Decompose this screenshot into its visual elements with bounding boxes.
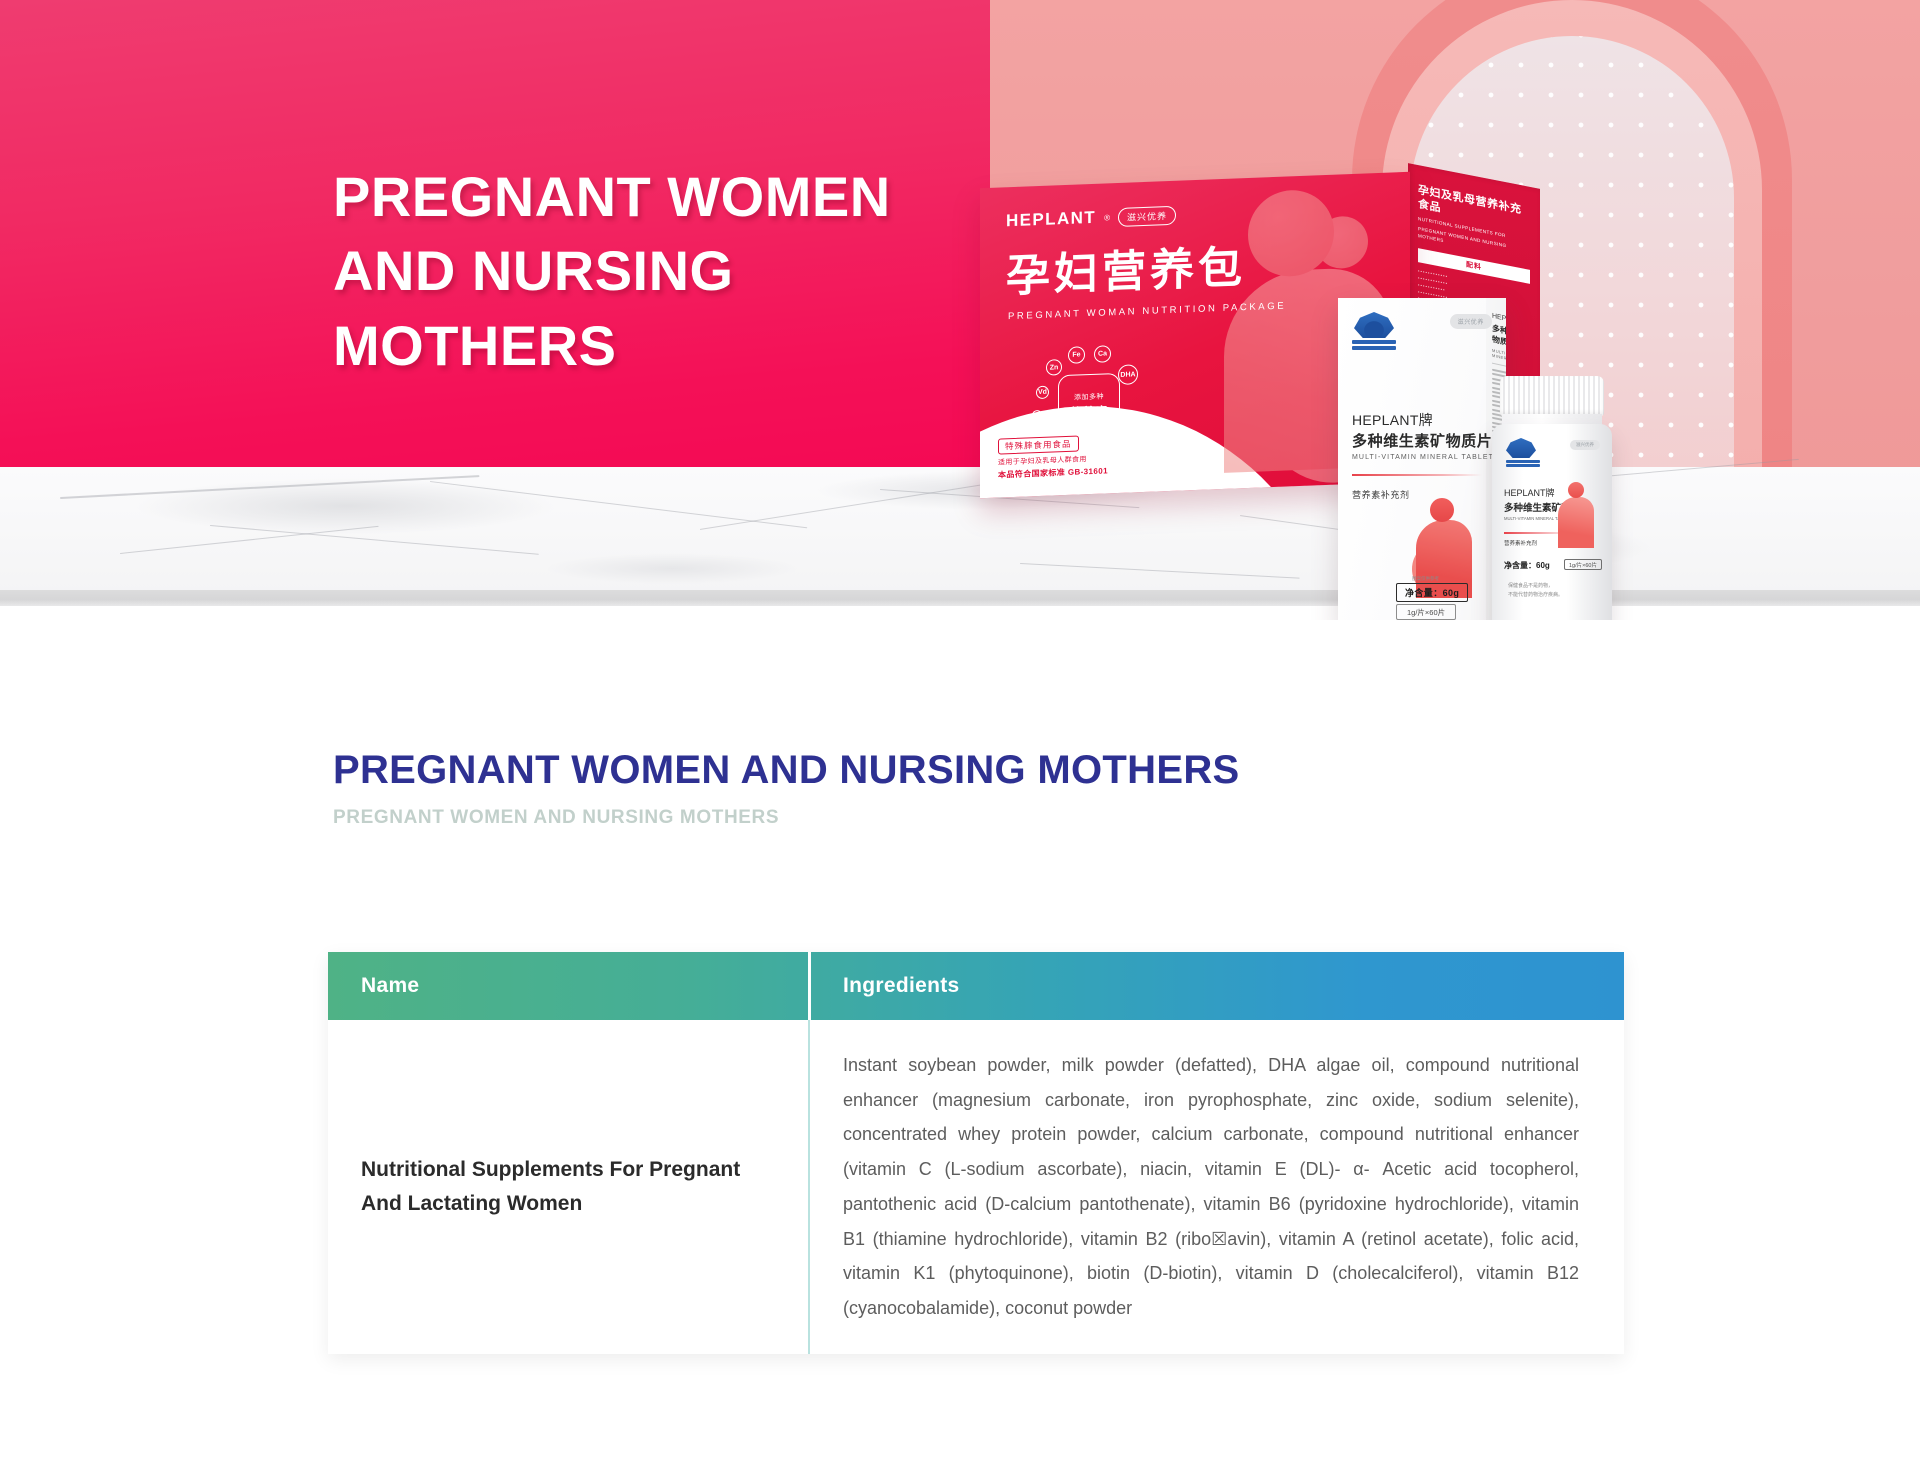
bottle-label: 滋兴优养 HEPLANT牌 多种维生素矿物质片 MULTI-VITAMIN MI… (1492, 424, 1612, 620)
hero-title-line-2: AND NURSING (333, 234, 993, 308)
tablet-box-chip: 滋兴优养 (1450, 314, 1492, 329)
tablet-box-brand: HEPLANT牌 (1352, 410, 1433, 430)
nutrient-dot-fe: Fe (1068, 346, 1085, 364)
product-bottle: 滋兴优养 HEPLANT牌 多种维生素矿物质片 MULTI-VITAMIN MI… (1482, 376, 1622, 620)
tablet-box-subtitle: 营养素补充剂 (1352, 488, 1410, 501)
health-food-logo-icon (1352, 312, 1396, 350)
hero-title: PREGNANT WOMEN AND NURSING MOTHERS (333, 160, 993, 383)
badge-line-1: 添加多种 (1074, 391, 1104, 402)
section-heading: PREGNANT WOMEN AND NURSING MOTHERS PREGN… (333, 748, 1240, 829)
nutrient-dot-ca: Ca (1094, 345, 1111, 363)
table-cell-name: Nutritional Supplements For Pregnant And… (328, 1020, 808, 1354)
nutrient-dot-zn: Zn (1046, 359, 1062, 376)
hero-title-line-1: PREGNANT WOMEN (333, 160, 993, 234)
nutrient-dot-a (1032, 410, 1042, 420)
registered-mark-icon: ® (1104, 213, 1110, 222)
table-header-row: Name Ingredients (328, 952, 1624, 1020)
bottle-subtitle: 营养素补充剂 (1504, 539, 1537, 547)
tablet-box-net-note: 图案仅供参考 (1412, 576, 1439, 582)
tablet-box-net-spec: 1g/片×60片 (1396, 604, 1456, 620)
tablet-box-title-cn: 多种维生素矿物质片 (1352, 430, 1492, 451)
certification-block: 特殊膟食用食品 适用于孕妇及乳母人群食用 本品符合国家标准 GB-31601 (998, 428, 1208, 481)
bottle-health-logo-icon (1506, 438, 1540, 467)
table-row: Nutritional Supplements For Pregnant And… (328, 1020, 1624, 1354)
hero-title-line-3: MOTHERS (333, 309, 993, 383)
section-title: PREGNANT WOMEN AND NURSING MOTHERS (333, 748, 1240, 793)
bottle-silhouette-icon (1554, 482, 1600, 548)
nutrient-dot-vd: Vd (1036, 386, 1049, 399)
product-image-group: 孕妇及乳母营养补充食品 NUTRITIONAL SUPPLEMENTS FOR … (960, 180, 1920, 620)
bottle-net-spec: 1g/片×60片 (1564, 559, 1602, 570)
cert-pill: 特殊膟食用食品 (998, 435, 1079, 454)
tablet-box-title-en: MULTI-VITAMIN MINERAL TABLETS (1352, 454, 1500, 461)
table-header-divider (808, 952, 811, 1020)
bottle-brand: HEPLANT牌 (1504, 486, 1555, 499)
table-header-ingredients: Ingredients (808, 952, 1624, 1020)
table-body-divider (808, 1020, 810, 1354)
bottle-disclaimer: 保健食品不是药物， 不能代替药物治疗疾病。 (1508, 582, 1563, 600)
brand-name: HEPLANT (1006, 208, 1096, 231)
brand-lockup: HEPLANT ® 滋兴优养 (1006, 205, 1176, 232)
section-subtitle: PREGNANT WOMEN AND NURSING MOTHERS (333, 807, 1240, 829)
table-cell-ingredients: Instant soybean powder, milk powder (def… (808, 1020, 1624, 1354)
badge-line-2: 营养素 (1069, 402, 1108, 420)
ingredients-table: Name Ingredients Nutritional Supplements… (328, 952, 1624, 1354)
nutrient-dot-dha: DHA (1118, 364, 1138, 385)
bottle-cap (1500, 376, 1604, 416)
badge-line-3: add multiple nutrients (1064, 420, 1113, 427)
product-tablet-box: HEPLANT牌 多种维生素矿物质片 MULTI-VITAMIN MINERAL… (1338, 298, 1506, 620)
bottle-net-weight: 净含量：60g (1504, 560, 1550, 571)
bottle-chip: 滋兴优养 (1570, 440, 1600, 450)
tablet-box-net-weight: 净含量：60g (1396, 583, 1468, 602)
box-title-cn: 孕妇营养包 (1006, 246, 1246, 299)
bottle-disclaimer-line-1: 保健食品不是药物， (1508, 583, 1553, 589)
bottle-disclaimer-line-2: 不能代替药物治疗疾病。 (1508, 592, 1563, 598)
brand-chip-cn: 滋兴优养 (1118, 205, 1176, 226)
hero-banner: PREGNANT WOMEN AND NURSING MOTHERS 孕妇及乳母… (0, 0, 1920, 620)
table-header-name: Name (328, 952, 808, 1020)
